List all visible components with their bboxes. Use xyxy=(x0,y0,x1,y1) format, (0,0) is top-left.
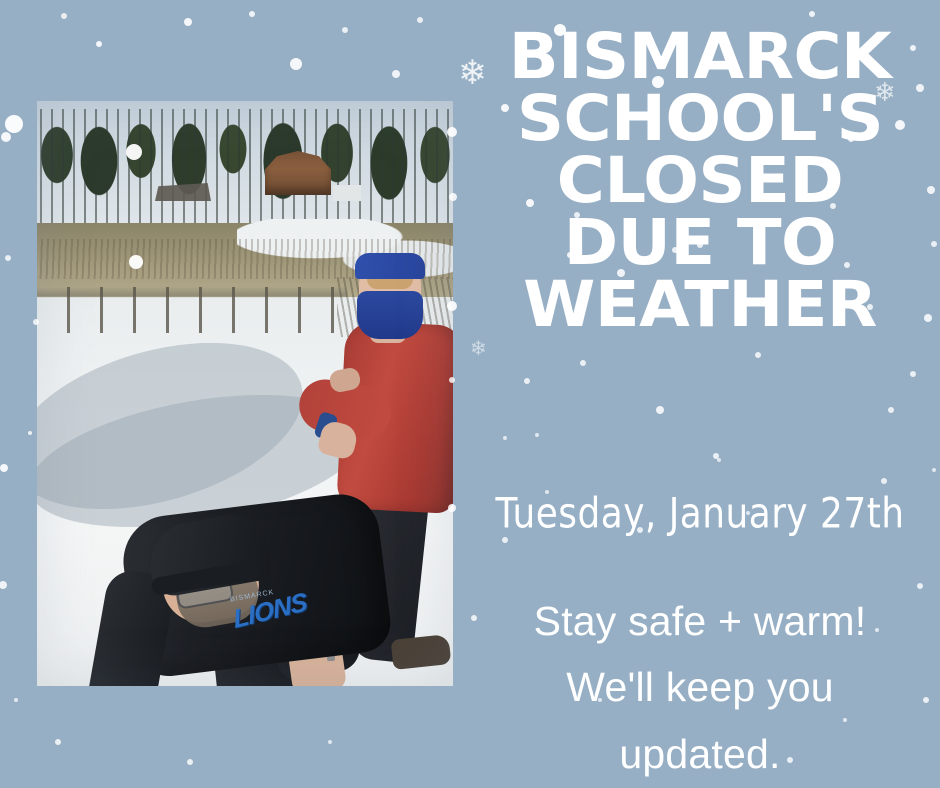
snow-dot xyxy=(249,11,255,17)
snow-dot xyxy=(61,13,67,19)
closure-message-line-3: updated. xyxy=(460,721,940,787)
school-closure-announcement-poster: BISMARCK LIONS BISMARCK SCHOOL'S CLOSED … xyxy=(0,0,940,788)
snow-dot xyxy=(28,431,32,435)
snow-dot xyxy=(14,698,18,702)
closure-message-line-2: We'll keep you xyxy=(460,654,940,720)
page-title: BISMARCK SCHOOL'S CLOSED DUE TO WEATHER xyxy=(450,26,940,336)
snow-dot xyxy=(342,27,348,33)
snow-dot xyxy=(187,759,193,765)
snow-dot xyxy=(184,18,192,26)
headline-line-1: BISMARCK xyxy=(450,26,940,88)
headline-line-2: SCHOOL'S xyxy=(450,88,940,150)
snow-dot xyxy=(5,115,23,133)
closure-message: Stay safe + warm! We'll keep you updated… xyxy=(460,588,940,787)
snow-dot xyxy=(55,739,61,745)
headline-line-3: CLOSED xyxy=(450,150,940,212)
snow-dot xyxy=(290,58,302,70)
announcement-text-column: BISMARCK SCHOOL'S CLOSED DUE TO WEATHER … xyxy=(460,0,940,788)
closure-date: Tuesday, January 27th xyxy=(467,489,933,537)
closure-message-line-1: Stay safe + warm! xyxy=(460,588,940,654)
headline-line-4: DUE TO xyxy=(450,212,940,274)
snow-dot xyxy=(0,464,8,472)
snow-dot xyxy=(417,17,423,23)
headline-line-5: WEATHER xyxy=(450,274,940,336)
snow-scene-photo: BISMARCK LIONS xyxy=(37,101,453,686)
snow-dot xyxy=(0,581,7,589)
snow-dot xyxy=(392,70,400,78)
snow-dot xyxy=(96,41,102,47)
snow-dot xyxy=(5,255,11,261)
snow-dot xyxy=(328,740,332,744)
snow-dot xyxy=(1,132,11,142)
photo-vignette xyxy=(37,101,453,686)
